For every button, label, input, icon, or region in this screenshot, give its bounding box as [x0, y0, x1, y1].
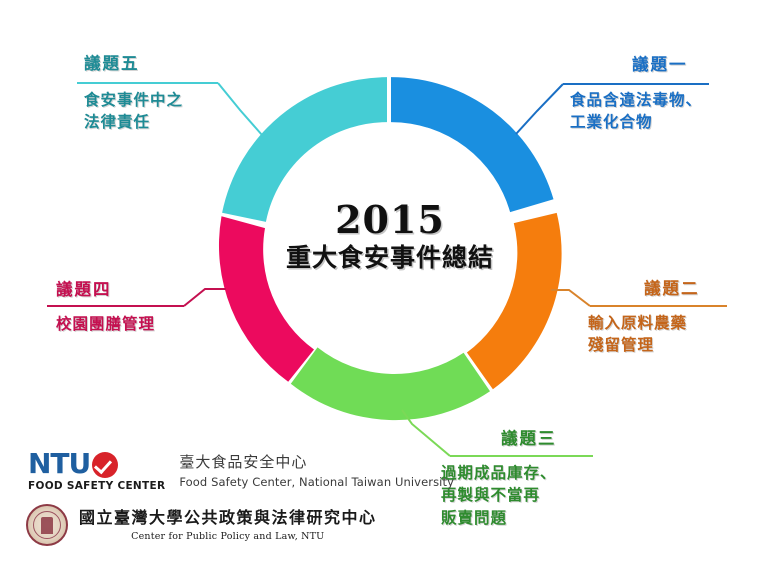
ntu-logo-letters: NTU [28, 447, 90, 480]
leader-line-topic-4-elbow [184, 289, 226, 306]
donut-segment-topic-3[interactable] [291, 347, 490, 420]
callout-topic-5-desc: 食安事件中之 法律責任 [84, 89, 183, 134]
cppl-name-zh: 國立臺灣大學公共政策與法律研究中心 [79, 508, 377, 527]
center-subtitle: 重大食安事件總結 [250, 244, 530, 272]
fsc-name-block: 臺大食品安全中心 Food Safety Center, National Ta… [179, 453, 454, 489]
callout-topic-1-desc: 食品含違法毒物、 工業化合物 [570, 89, 702, 134]
ntu-logo-mark: NTU FOOD SAFETY CENTER [28, 450, 165, 492]
callout-topic-2-title: 議題二 [644, 280, 700, 299]
ntu-logo-subtitle: FOOD SAFETY CENTER [28, 481, 165, 492]
cppl-name-en: Center for Public Policy and Law, NTU [79, 531, 377, 542]
logo-food-safety-center: NTU FOOD SAFETY CENTER 臺大食品安全中心 Food Saf… [28, 450, 454, 492]
callout-topic-1[interactable]: 議題一 食品含違法毒物、 工業化合物 [570, 56, 702, 134]
callout-topic-5-title: 議題五 [84, 55, 183, 74]
callout-topic-2-desc: 輸入原料農藥 殘留管理 [588, 312, 700, 357]
callout-topic-5[interactable]: 議題五 食安事件中之 法律責任 [84, 55, 183, 134]
callout-topic-4-desc: 校園團膳管理 [56, 313, 155, 335]
fsc-name-en: Food Safety Center, National Taiwan Univ… [179, 475, 454, 489]
leader-line-topic-5-elbow [218, 83, 262, 135]
callout-topic-1-title: 議題一 [632, 56, 702, 75]
callout-topic-4[interactable]: 議題四 校園團膳管理 [56, 281, 155, 335]
callout-topic-2[interactable]: 議題二 輸入原料農藥 殘留管理 [588, 280, 700, 357]
checkmark-icon [92, 452, 118, 478]
chart-center-label: 2015 重大食安事件總結 [250, 200, 530, 271]
slide-canvas: 2015 重大食安事件總結 議題一 食品含違法毒物、 工業化合物 議題二 輸入原… [0, 0, 780, 585]
center-year: 2015 [250, 200, 530, 240]
fsc-name-zh: 臺大食品安全中心 [179, 453, 454, 472]
donut-segment-topic-1[interactable] [391, 77, 554, 212]
callout-topic-3-desc: 過期成品庫存、 再製與不當再 販賣問題 [441, 462, 557, 529]
leader-line-topic-1-elbow [516, 84, 563, 134]
callout-topic-3-title: 議題三 [501, 430, 557, 449]
logo-cppl: 國立臺灣大學公共政策與法律研究中心 Center for Public Poli… [26, 504, 377, 546]
callout-topic-4-title: 議題四 [56, 281, 155, 300]
cppl-name-block: 國立臺灣大學公共政策與法律研究中心 Center for Public Poli… [79, 508, 377, 542]
ntu-seal-icon [26, 504, 68, 546]
callout-topic-3[interactable]: 議題三 過期成品庫存、 再製與不當再 販賣問題 [441, 430, 557, 529]
